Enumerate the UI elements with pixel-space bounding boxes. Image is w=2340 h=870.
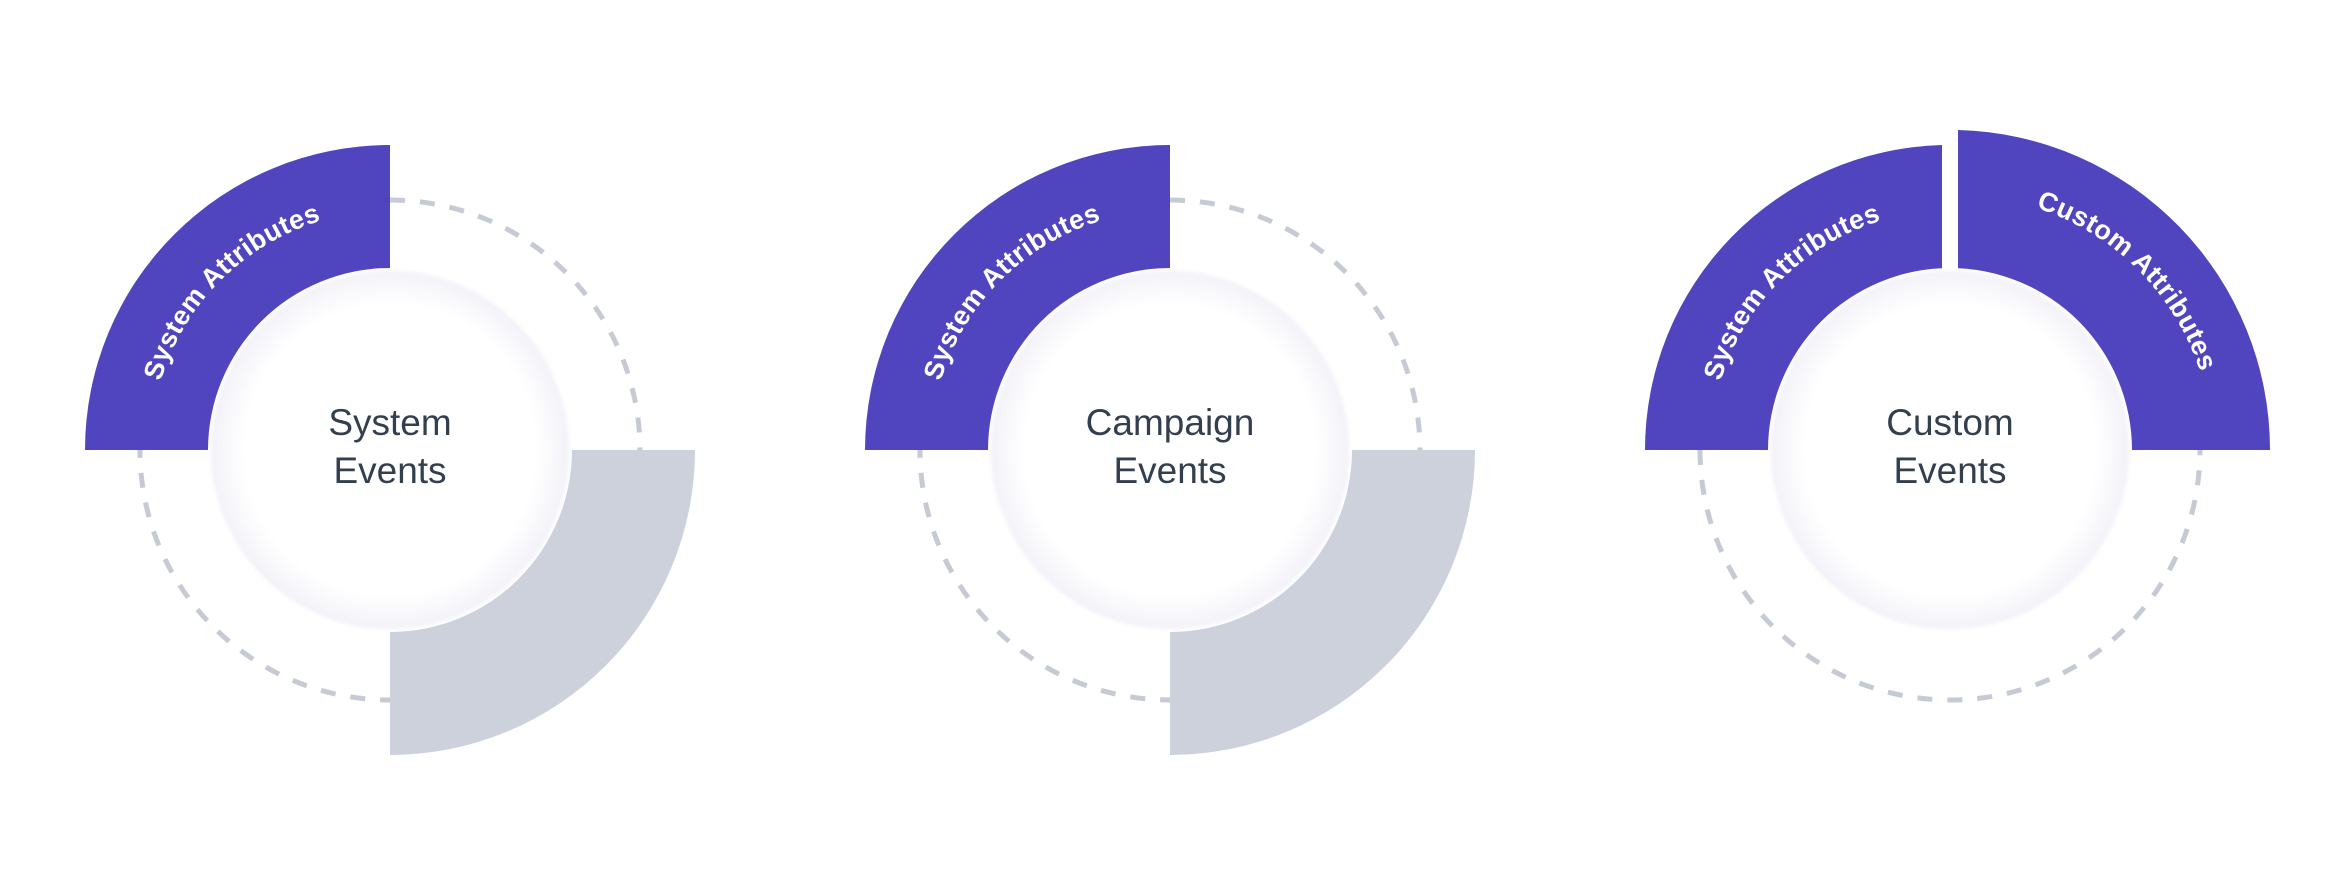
donut-chart-custom-events: System Attributes Custom Attributes Cust… (1560, 0, 2340, 870)
center-label-line1: Custom (1886, 402, 2013, 443)
center-label-line1: Campaign (1086, 402, 1255, 443)
donut-chart-campaign-events: System Attributes Campaign Events (780, 0, 1560, 870)
center-label-line2: Events (333, 450, 446, 491)
center-label-line1: System (328, 402, 451, 443)
donut-chart-system-events: System Attributes System Events (0, 0, 780, 870)
diagram-canvas: System Attributes System Events (0, 0, 2340, 870)
donut-chart-row: System Attributes System Events (0, 0, 2340, 870)
center-label-line2: Events (1893, 450, 2006, 491)
center-label-line2: Events (1113, 450, 1226, 491)
